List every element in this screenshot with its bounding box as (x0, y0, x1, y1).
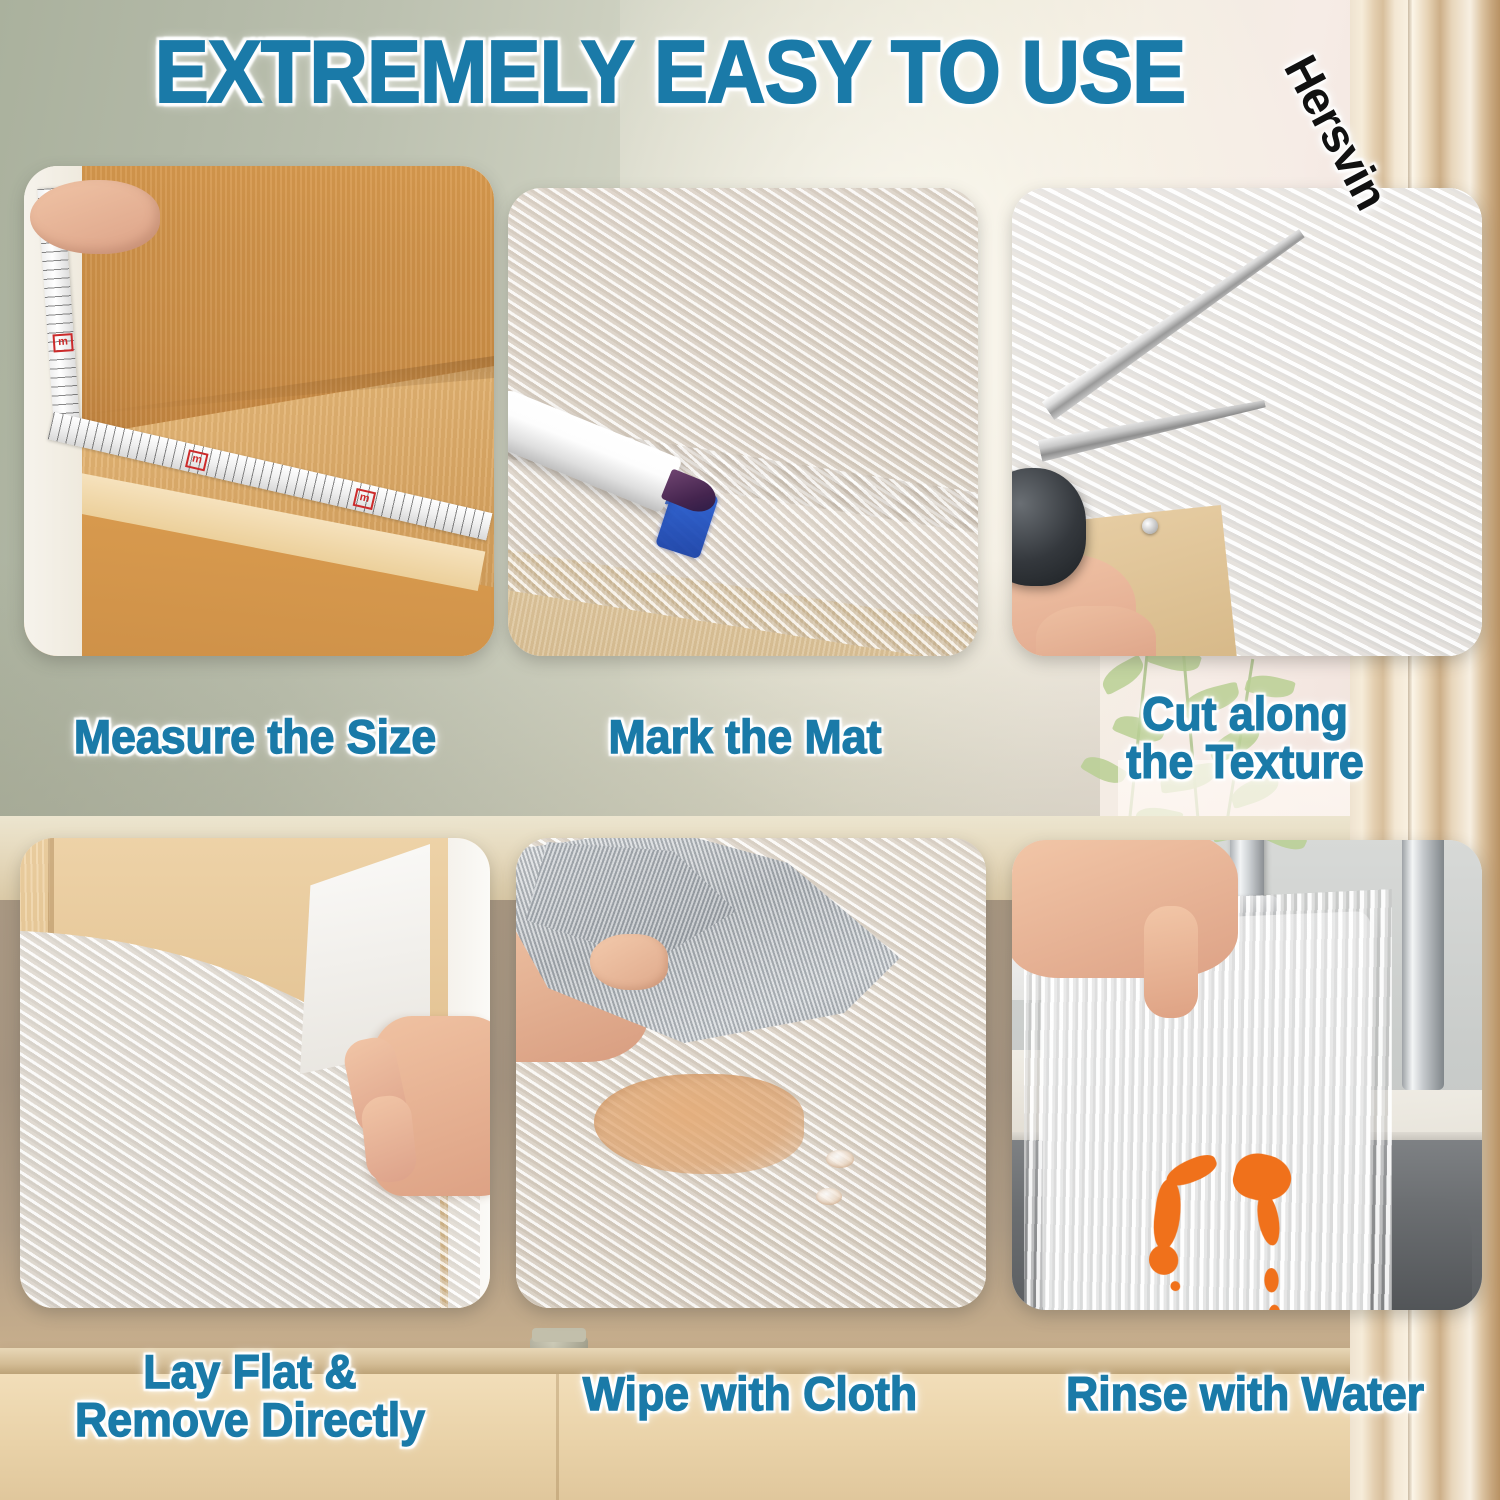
orange-stain (1149, 1154, 1310, 1310)
step-4-image (20, 838, 490, 1308)
faucet-icon (1402, 840, 1444, 1090)
step-6-image (1012, 840, 1482, 1310)
step-3-caption-line-1: Cut along (1012, 690, 1478, 738)
step-4-caption-line-1: Lay Flat & (13, 1348, 488, 1396)
step-5-caption: Wipe with Cloth (532, 1370, 969, 1418)
step-2-caption: Mark the Mat (522, 713, 969, 761)
water-droplet (826, 1150, 854, 1168)
page-title: EXTREMELY EASY TO USE (54, 28, 1287, 116)
step-4-caption-line-2: Remove Directly (13, 1396, 488, 1444)
step-1-image: m m m (24, 166, 494, 656)
step-1-caption: Measure the Size (13, 713, 498, 761)
liquid-spill (594, 1074, 804, 1174)
step-4-caption: Lay Flat & Remove Directly (13, 1348, 488, 1444)
step-1-caption-line-1: Measure the Size (74, 710, 436, 763)
step-6-caption-line-1: Rinse with Water (1066, 1367, 1424, 1420)
step-5-caption-line-1: Wipe with Cloth (583, 1367, 917, 1420)
step-3-image (1012, 188, 1482, 656)
step-2-image (508, 188, 978, 656)
hand-icon (1012, 840, 1238, 978)
water-droplet (816, 1188, 842, 1205)
step-3-caption-line-2: the Texture (1012, 738, 1478, 786)
step-2-caption-line-1: Mark the Mat (609, 710, 882, 763)
step-3-caption: Cut along the Texture (1012, 690, 1478, 786)
brand-logo: Hersvin (1318, 4, 1498, 154)
step-5-image (516, 838, 986, 1308)
step-6-caption: Rinse with Water (1008, 1370, 1483, 1418)
